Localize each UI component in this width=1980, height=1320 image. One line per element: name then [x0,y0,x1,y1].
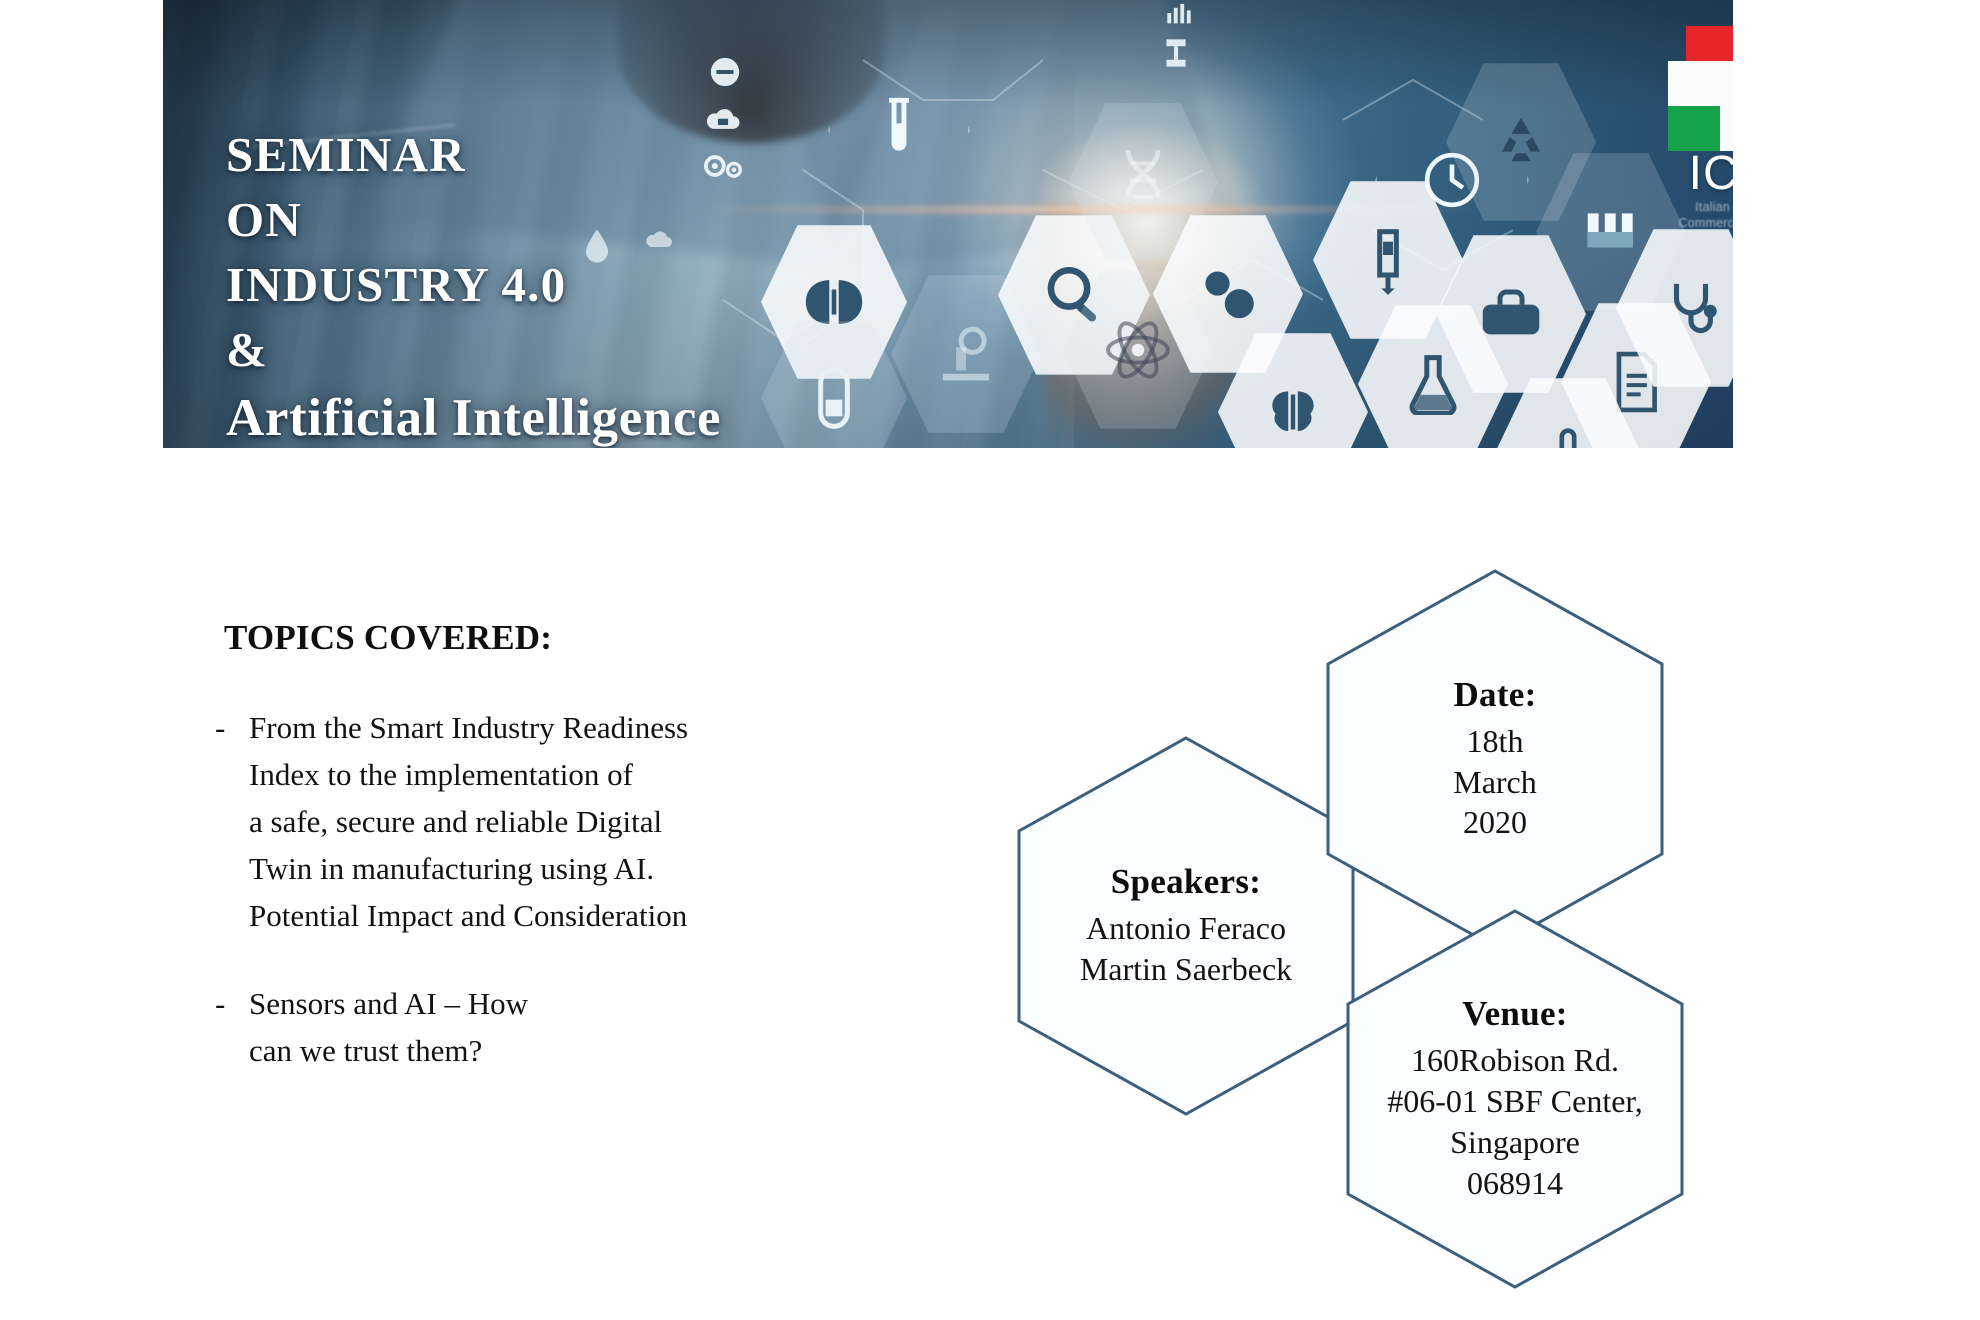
venue-street: 160Robison Rd. [1411,1040,1619,1081]
date-month: March [1453,762,1537,803]
venue-content: Venue: 160Robison Rd. #06-01 SBF Center,… [1345,908,1685,1290]
date-day: 18th [1467,721,1524,762]
topics-heading: TOPICS COVERED: [224,618,975,658]
topic-1-line-1: From the Smart Industry Readiness [249,704,975,751]
seminar-poster: SEMINAR ON INDUSTRY 4.0 & Artificial Int… [0,0,1980,1320]
speaker-name-2: Martin Saerbeck [1080,949,1292,990]
venue-city: Singapore [1450,1122,1580,1163]
topic-2-line-1: Sensors and AI – How [249,980,975,1027]
topic-1-line-3: a safe, secure and reliable Digital [249,798,975,845]
topic-bullet-1-text: From the Smart Industry Readiness Index … [249,704,975,940]
title-line-3: INDUSTRY 4.0 [226,252,926,317]
venue-hexagon: Venue: 160Robison Rd. #06-01 SBF Center,… [1345,908,1685,1290]
date-year: 2020 [1463,802,1527,843]
speakers-hexagon: Speakers: Antonio Feraco Martin Saerbeck [1016,735,1356,1117]
title-line-5: Artificial Intelligence [226,383,926,448]
date-hexagon: Date: 18th March 2020 [1325,568,1665,950]
topic-2-line-2: can we trust them? [249,1027,975,1074]
logo-subtitle: Italian Chamber of Commerce in Singapore [1668,200,1733,231]
network-node-icon [1163,38,1189,73]
speaker-name-1: Antonio Feraco [1086,908,1286,949]
bullet-marker: - [215,980,249,1074]
topic-bullet-2: - Sensors and AI – How can we trust them… [215,980,975,1074]
venue-postal: 068914 [1467,1163,1563,1204]
topics-section: TOPICS COVERED: - From the Smart Industr… [215,618,975,1114]
topic-1-line-5: Potential Impact and Consideration [249,892,975,939]
banner-title: SEMINAR ON INDUSTRY 4.0 & Artificial Int… [226,122,926,448]
topic-bullet-2-text: Sensors and AI – How can we trust them? [249,980,975,1074]
topic-bullet-1: - From the Smart Industry Readiness Inde… [215,704,975,940]
banner-image: SEMINAR ON INDUSTRY 4.0 & Artificial Int… [163,0,1733,448]
logo-green-square [1668,106,1720,151]
venue-unit: #06-01 SBF Center, [1387,1081,1643,1122]
date-title: Date: [1453,675,1536,715]
title-line-4: & [226,317,926,382]
topic-1-line-4: Twin in manufacturing using AI. [249,845,975,892]
title-line-1: SEMINAR [226,122,926,187]
signal-bars-icon [1166,2,1192,29]
logo-wordmark: ICCS [1668,150,1733,198]
venue-title: Venue: [1462,994,1568,1034]
speakers-title: Speakers: [1111,862,1261,902]
iccs-logo: ICCS Italian Chamber of Commerce in Sing… [1668,26,1733,231]
minus-circle-icon [708,55,742,94]
speakers-content: Speakers: Antonio Feraco Martin Saerbeck [1016,735,1356,1117]
date-content: Date: 18th March 2020 [1325,568,1665,950]
topic-1-line-2: Index to the implementation of [249,751,975,798]
title-line-2: ON [226,187,926,252]
bullet-marker: - [215,704,249,940]
